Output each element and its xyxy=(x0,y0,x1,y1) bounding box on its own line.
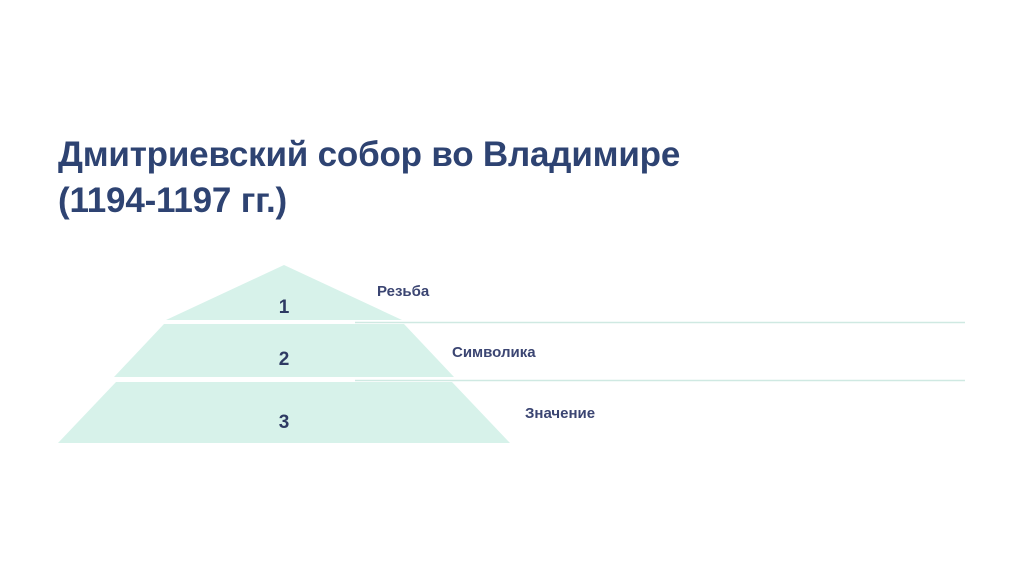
pyramid-tier-2-label: Символика xyxy=(452,344,536,361)
pyramid-tier-3-label: Значение xyxy=(525,405,595,422)
pyramid-tier-1-number: 1 xyxy=(254,297,314,319)
pyramid-diagram: 1 2 3 Резьба Символика Значение xyxy=(0,0,1024,576)
pyramid-tier-1-label: Резьба xyxy=(377,283,429,300)
slide-canvas: Дмитриевский собор во Владимире (1194-11… xyxy=(0,0,1024,576)
pyramid-tier-2-number: 2 xyxy=(254,349,314,371)
pyramid-tier-3-number: 3 xyxy=(254,412,314,434)
